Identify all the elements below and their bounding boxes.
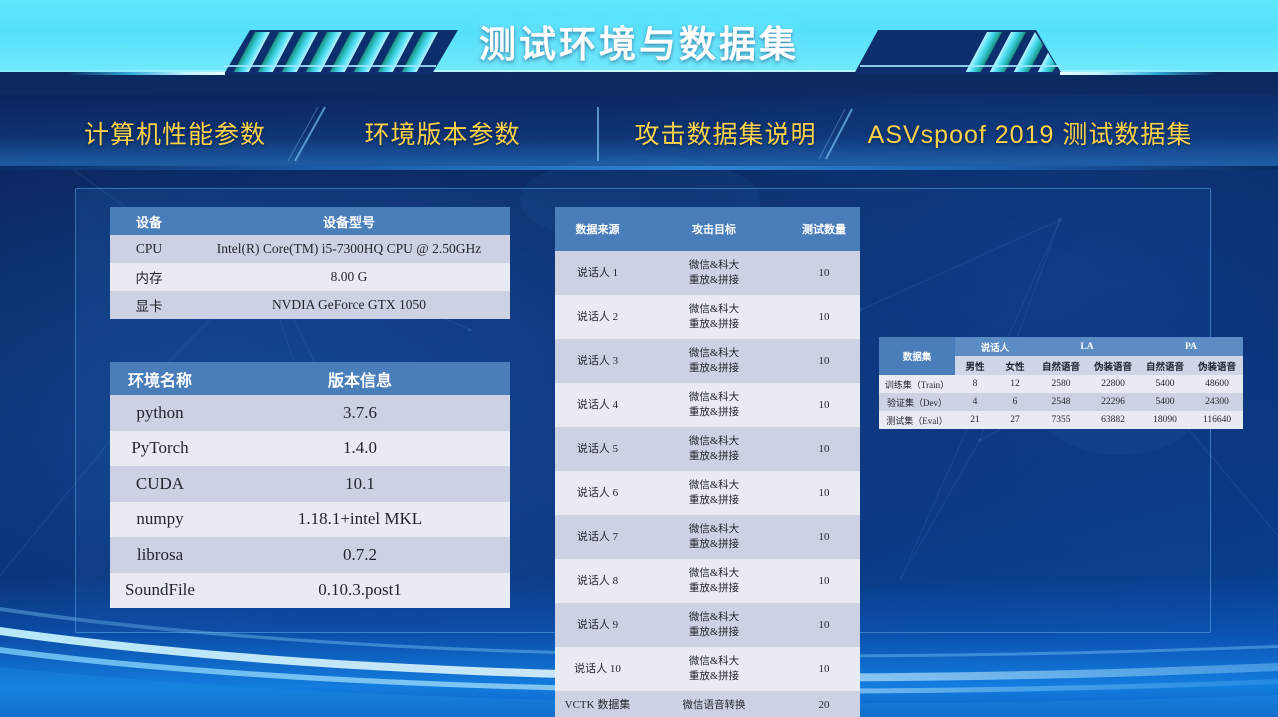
asv-cell: 4 xyxy=(955,393,995,411)
asv-cell: 63882 xyxy=(1087,411,1139,429)
attack-target: 微信&科大 重放&拼接 xyxy=(640,515,788,559)
attack-source: 说话人 6 xyxy=(555,471,640,515)
asv-row-label: 训练集（Train） xyxy=(879,375,955,393)
tab-computer-performance[interactable]: 计算机性能参数 xyxy=(55,111,295,155)
attack-target: 微信&科大 重放&拼接 xyxy=(640,383,788,427)
attack-target-line2: 重放&拼接 xyxy=(644,625,784,640)
asv-cell: 22296 xyxy=(1087,393,1139,411)
table-row: SoundFile 0.10.3.post1 xyxy=(110,573,510,609)
table-row: 说话人 10 微信&科大 重放&拼接 10 xyxy=(555,647,860,691)
env-name: SoundFile xyxy=(110,573,210,609)
nav-tab-bar: 计算机性能参数 环境版本参数 攻击数据集说明 ASVspoof 2019 测试数… xyxy=(0,95,1278,170)
table-row: 验证集（Dev） 4 6 2548 22296 5400 24300 xyxy=(879,393,1243,411)
attack-target-line2: 重放&拼接 xyxy=(644,273,784,288)
attack-dataset-table: 数据来源 攻击目标 测试数量 说话人 1 微信&科大 重放&拼接 10 说话人 … xyxy=(555,207,860,717)
table-row: 说话人 2 微信&科大 重放&拼接 10 xyxy=(555,295,860,339)
attack-count: 10 xyxy=(788,647,860,691)
asv-row-label: 测试集（Eval） xyxy=(879,411,955,429)
table-row: 说话人 6 微信&科大 重放&拼接 10 xyxy=(555,471,860,515)
slide-root: 测试环境与数据集 计算机性能参数 环境版本参数 攻击数据集说明 xyxy=(0,0,1278,717)
tab-label: 环境版本参数 xyxy=(364,115,520,151)
device-name: 内存 xyxy=(110,263,188,291)
asv-group-header-pa: PA xyxy=(1139,337,1243,356)
env-version: 10.1 xyxy=(210,466,510,502)
attack-source: 说话人 3 xyxy=(555,339,640,383)
attack-target-line2: 重放&拼接 xyxy=(644,581,784,596)
env-version: 1.18.1+intel MKL xyxy=(210,502,510,538)
asv-cell: 116640 xyxy=(1191,411,1243,429)
attack-source: 说话人 9 xyxy=(555,603,640,647)
attack-count: 10 xyxy=(788,559,860,603)
attack-count: 10 xyxy=(788,471,860,515)
device-col-header-1: 设备型号 xyxy=(188,207,510,235)
asv-cell: 48600 xyxy=(1191,375,1243,393)
attack-count: 10 xyxy=(788,603,860,647)
attack-source: 说话人 7 xyxy=(555,515,640,559)
attack-target-line1: 微信&科大 xyxy=(644,478,784,493)
attack-target-line2: 重放&拼接 xyxy=(644,317,784,332)
tab-label: 计算机性能参数 xyxy=(84,115,266,151)
env-name: CUDA xyxy=(110,466,210,502)
attack-target: 微信&科大 重放&拼接 xyxy=(640,295,788,339)
table-row: 说话人 3 微信&科大 重放&拼接 10 xyxy=(555,339,860,383)
asvspoof-dataset-table: 数据集 说话人 LA PA 男性 女性 自然语音 伪装语音 自然语音 伪装语音 … xyxy=(879,337,1243,429)
env-version: 3.7.6 xyxy=(210,395,510,431)
table-row: 说话人 1 微信&科大 重放&拼接 10 xyxy=(555,251,860,295)
attack-count: 10 xyxy=(788,515,860,559)
table-row: 说话人 8 微信&科大 重放&拼接 10 xyxy=(555,559,860,603)
env-name: librosa xyxy=(110,537,210,573)
asv-cell: 6 xyxy=(995,393,1035,411)
environment-version-table: 环境名称 版本信息 python 3.7.6 PyTorch 1.4.0 CUD… xyxy=(110,362,510,608)
env-version: 0.10.3.post1 xyxy=(210,573,510,609)
tab-asvspoof-2019[interactable]: ASVspoof 2019 测试数据集 xyxy=(855,111,1205,155)
table-row: 说话人 9 微信&科大 重放&拼接 10 xyxy=(555,603,860,647)
attack-source: 说话人 10 xyxy=(555,647,640,691)
device-model: NVDIA GeForce GTX 1050 xyxy=(188,291,510,319)
table-row: 测试集（Eval） 21 27 7355 63882 18090 116640 xyxy=(879,411,1243,429)
device-col-header-0: 设备 xyxy=(110,207,188,235)
attack-target-line1: 微信&科大 xyxy=(644,566,784,581)
table-row: librosa 0.7.2 xyxy=(110,537,510,573)
attack-count: 10 xyxy=(788,295,860,339)
asv-sub-header-pa-spoof: 伪装语音 xyxy=(1191,356,1243,375)
env-name: numpy xyxy=(110,502,210,538)
attack-target: 微信&科大 重放&拼接 xyxy=(640,471,788,515)
asv-sub-header-pa-bonafide: 自然语音 xyxy=(1139,356,1191,375)
attack-target-line1: 微信&科大 xyxy=(644,610,784,625)
attack-target-line2: 重放&拼接 xyxy=(644,361,784,376)
table-header-row: 环境名称 版本信息 xyxy=(110,362,510,395)
attack-target-line2: 重放&拼接 xyxy=(644,493,784,508)
attack-target-line1: 微信&科大 xyxy=(644,258,784,273)
tab-environment-version[interactable]: 环境版本参数 xyxy=(335,111,550,155)
asv-cell: 5400 xyxy=(1139,375,1191,393)
attack-col-header-1: 攻击目标 xyxy=(640,207,788,251)
asv-cell: 2580 xyxy=(1035,375,1087,393)
table-row: 说话人 7 微信&科大 重放&拼接 10 xyxy=(555,515,860,559)
table-header-row: 数据来源 攻击目标 测试数量 xyxy=(555,207,860,251)
asv-group-header-la: LA xyxy=(1035,337,1139,356)
table-header-row-group: 数据集 说话人 LA PA xyxy=(879,337,1243,356)
env-col-header-1: 版本信息 xyxy=(210,362,510,395)
asv-sub-header-la-spoof: 伪装语音 xyxy=(1087,356,1139,375)
table-row: CUDA 10.1 xyxy=(110,466,510,502)
table-row: 内存 8.00 G xyxy=(110,263,510,291)
attack-target-line2: 重放&拼接 xyxy=(644,449,784,464)
attack-target: 微信&科大 重放&拼接 xyxy=(640,647,788,691)
device-name: 显卡 xyxy=(110,291,188,319)
asv-group-header-speaker: 说话人 xyxy=(955,337,1035,356)
attack-target: 微信&科大 重放&拼接 xyxy=(640,559,788,603)
env-version: 1.4.0 xyxy=(210,431,510,467)
attack-source: 说话人 4 xyxy=(555,383,640,427)
attack-target-line1: 微信&科大 xyxy=(644,302,784,317)
table-row: python 3.7.6 xyxy=(110,395,510,431)
device-model: 8.00 G xyxy=(188,263,510,291)
asv-cell: 18090 xyxy=(1139,411,1191,429)
table-header-row: 设备 设备型号 xyxy=(110,207,510,235)
asv-corner-header: 数据集 xyxy=(879,337,955,375)
tab-label: 攻击数据集说明 xyxy=(634,115,816,151)
asv-cell: 8 xyxy=(955,375,995,393)
attack-target: 微信&科大 重放&拼接 xyxy=(640,427,788,471)
table-row: 说话人 5 微信&科大 重放&拼接 10 xyxy=(555,427,860,471)
attack-source: 说话人 8 xyxy=(555,559,640,603)
table-row: CPU Intel(R) Core(TM) i5-7300HQ CPU @ 2.… xyxy=(110,235,510,263)
table-row: 训练集（Train） 8 12 2580 22800 5400 48600 xyxy=(879,375,1243,393)
attack-target-line1: 微信&科大 xyxy=(644,654,784,669)
attack-target-line1: 微信&科大 xyxy=(644,346,784,361)
asv-cell: 22800 xyxy=(1087,375,1139,393)
asv-cell: 2548 xyxy=(1035,393,1087,411)
attack-target-line1: 微信&科大 xyxy=(644,434,784,449)
attack-count: 10 xyxy=(788,339,860,383)
attack-source: 说话人 5 xyxy=(555,427,640,471)
tab-label: ASVspoof 2019 测试数据集 xyxy=(868,115,1193,151)
attack-source: 说话人 2 xyxy=(555,295,640,339)
table-row: VCTK 数据集 微信语音转换 20 xyxy=(555,691,860,717)
attack-count: 10 xyxy=(788,427,860,471)
attack-col-header-2: 测试数量 xyxy=(788,207,860,251)
attack-target: 微信语音转换 xyxy=(640,691,788,717)
header-accent-line xyxy=(0,68,1278,82)
asv-cell: 12 xyxy=(995,375,1035,393)
asv-sub-header-la-bonafide: 自然语音 xyxy=(1035,356,1087,375)
attack-source: 说话人 1 xyxy=(555,251,640,295)
attack-source: VCTK 数据集 xyxy=(555,691,640,717)
env-name: python xyxy=(110,395,210,431)
asv-cell: 5400 xyxy=(1139,393,1191,411)
device-name: CPU xyxy=(110,235,188,263)
attack-count: 10 xyxy=(788,251,860,295)
tab-attack-dataset[interactable]: 攻击数据集说明 xyxy=(608,111,843,155)
asv-cell: 24300 xyxy=(1191,393,1243,411)
asv-sub-header-male: 男性 xyxy=(955,356,995,375)
asv-sub-header-female: 女性 xyxy=(995,356,1035,375)
attack-target-line1: 微信&科大 xyxy=(644,390,784,405)
env-col-header-0: 环境名称 xyxy=(110,362,210,395)
device-spec-table: 设备 设备型号 CPU Intel(R) Core(TM) i5-7300HQ … xyxy=(110,207,510,319)
attack-target: 微信&科大 重放&拼接 xyxy=(640,339,788,383)
table-row: 显卡 NVDIA GeForce GTX 1050 xyxy=(110,291,510,319)
attack-target-line2: 重放&拼接 xyxy=(644,669,784,684)
attack-target-line2: 重放&拼接 xyxy=(644,537,784,552)
page-title: 测试环境与数据集 xyxy=(0,14,1278,68)
attack-target: 微信&科大 重放&拼接 xyxy=(640,251,788,295)
attack-count: 20 xyxy=(788,691,860,717)
asv-cell: 27 xyxy=(995,411,1035,429)
env-name: PyTorch xyxy=(110,431,210,467)
table-row: PyTorch 1.4.0 xyxy=(110,431,510,467)
attack-count: 10 xyxy=(788,383,860,427)
asv-cell: 21 xyxy=(955,411,995,429)
attack-target: 微信&科大 重放&拼接 xyxy=(640,603,788,647)
asv-row-label: 验证集（Dev） xyxy=(879,393,955,411)
attack-target-line1: 微信&科大 xyxy=(644,522,784,537)
asv-cell: 7355 xyxy=(1035,411,1087,429)
device-model: Intel(R) Core(TM) i5-7300HQ CPU @ 2.50GH… xyxy=(188,235,510,263)
attack-target-line2: 重放&拼接 xyxy=(644,405,784,420)
table-row: numpy 1.18.1+intel MKL xyxy=(110,502,510,538)
attack-col-header-0: 数据来源 xyxy=(555,207,640,251)
table-row: 说话人 4 微信&科大 重放&拼接 10 xyxy=(555,383,860,427)
env-version: 0.7.2 xyxy=(210,537,510,573)
